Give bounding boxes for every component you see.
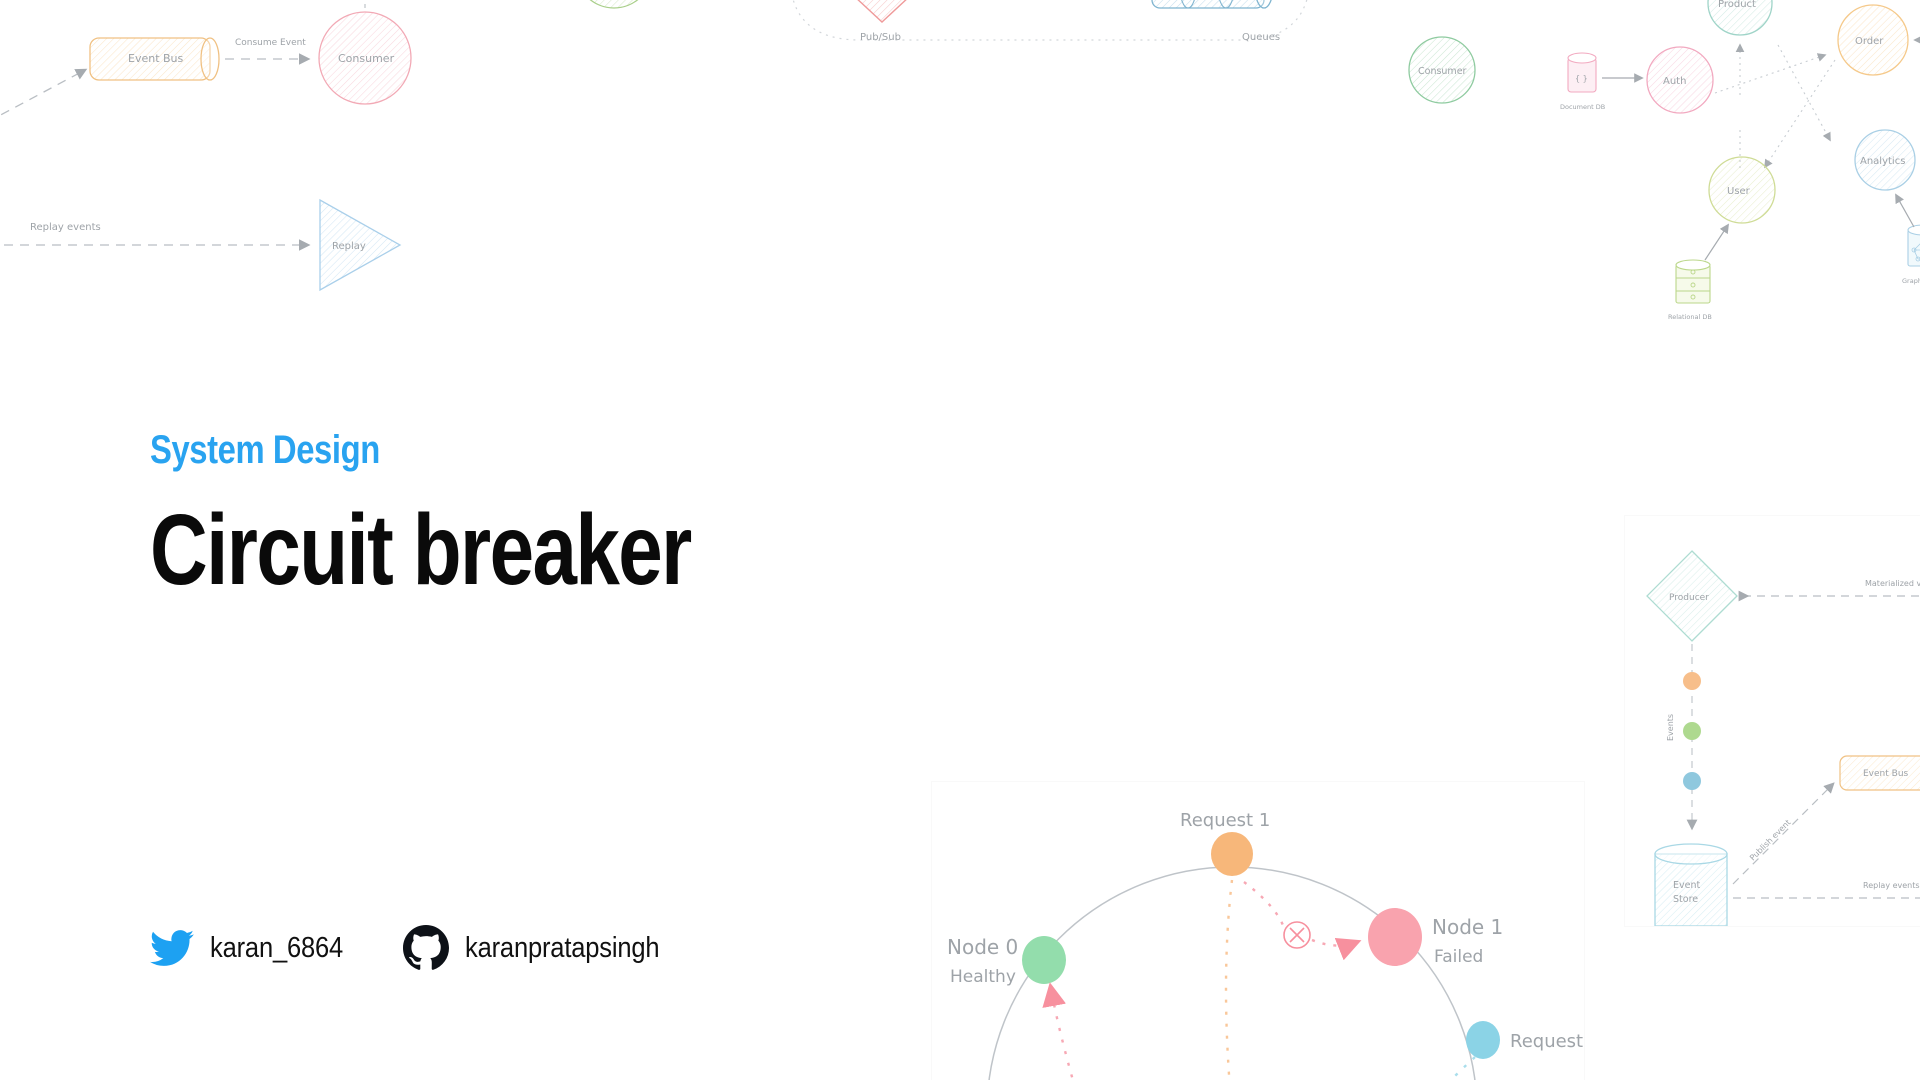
hero-text-block: System Design Circuit breaker (150, 430, 826, 603)
social-github[interactable]: karanpratapsingh (403, 925, 686, 971)
page-title: Circuit breaker (150, 498, 691, 603)
diagram-pubsub-consumer: Consumer (1330, 10, 1560, 170)
svg-text:Event: Event (1673, 880, 1700, 891)
diagram-event-bus-replay: Publish event Event Bus Consume Event Co… (0, 0, 490, 315)
social-twitter[interactable]: karan_6864 (150, 926, 361, 970)
svg-text:Replay: Replay (332, 241, 366, 252)
svg-text:Materialized view: Materialized view (1865, 579, 1920, 588)
svg-text:Replay events: Replay events (1863, 881, 1920, 890)
svg-text:Product: Product (1718, 0, 1756, 10)
svg-text:Consumer: Consumer (338, 52, 395, 65)
svg-text:Event Bus: Event Bus (128, 52, 184, 65)
svg-text:Pub/Sub: Pub/Sub (860, 32, 901, 43)
svg-text:Failed: Failed (1434, 947, 1483, 967)
svg-text:Node 0: Node 0 (947, 935, 1018, 959)
svg-text:Consume Event: Consume Event (235, 38, 306, 48)
svg-text:Healthy: Healthy (950, 967, 1016, 987)
twitter-handle: karan_6864 (210, 932, 343, 965)
svg-text:{ }: { } (1575, 74, 1588, 83)
circuit-breaker-sketch: Node 0 Healthy Request 1 Node 1 Failed R… (932, 782, 1584, 1080)
circled-x-icon (1284, 922, 1310, 948)
svg-text:Graph DB: Graph DB (1902, 277, 1920, 285)
pubsub-consumer-sketch: Consumer (1330, 10, 1560, 170)
svg-text:Consumer: Consumer (1418, 66, 1467, 77)
svg-text:Document DB: Document DB (1560, 103, 1605, 111)
page-eyebrow: System Design (150, 430, 704, 470)
svg-text:Producer: Producer (1669, 593, 1709, 603)
svg-text:Publish event: Publish event (1748, 818, 1792, 862)
svg-text:Request 1: Request 1 (1180, 810, 1270, 831)
diagram-event-sourcing: Producer Materialized view Events Event … (1625, 516, 1920, 926)
svg-text:Analytics: Analytics (1860, 156, 1905, 167)
svg-text:Request 2: Request 2 (1510, 1031, 1584, 1052)
svg-text:Event Bus: Event Bus (1863, 769, 1909, 779)
svg-text:Queues: Queues (1242, 32, 1280, 43)
diagram-pubsub-queues: Producer Pub/Sub Queues (540, 0, 1420, 170)
event-sourcing-sketch: Producer Materialized view Events Event … (1625, 516, 1920, 926)
svg-text:Replay events: Replay events (30, 222, 101, 233)
twitter-icon (150, 926, 194, 970)
pubsub-queues-sketch: Producer Pub/Sub Queues (540, 0, 1420, 170)
github-handle: karanpratapsingh (465, 932, 659, 965)
microservices-sketch: Product Order Auth User Analytics { } Do… (1530, 0, 1920, 365)
social-links: karan_6864 karanpratapsingh (150, 925, 686, 971)
svg-text:User: User (1727, 186, 1751, 197)
svg-text:Node 1: Node 1 (1432, 915, 1503, 939)
svg-text:Events: Events (1666, 714, 1675, 741)
github-icon (403, 925, 449, 971)
event-bus-replay-sketch: Publish event Event Bus Consume Event Co… (0, 0, 490, 315)
svg-text:Auth: Auth (1663, 76, 1686, 87)
svg-text:Relational DB: Relational DB (1668, 313, 1712, 321)
svg-text:Store: Store (1673, 894, 1698, 905)
diagram-circuit-breaker: Node 0 Healthy Request 1 Node 1 Failed R… (932, 782, 1584, 1080)
diagram-microservices: Product Order Auth User Analytics { } Do… (1530, 0, 1920, 365)
svg-text:Order: Order (1855, 36, 1884, 47)
